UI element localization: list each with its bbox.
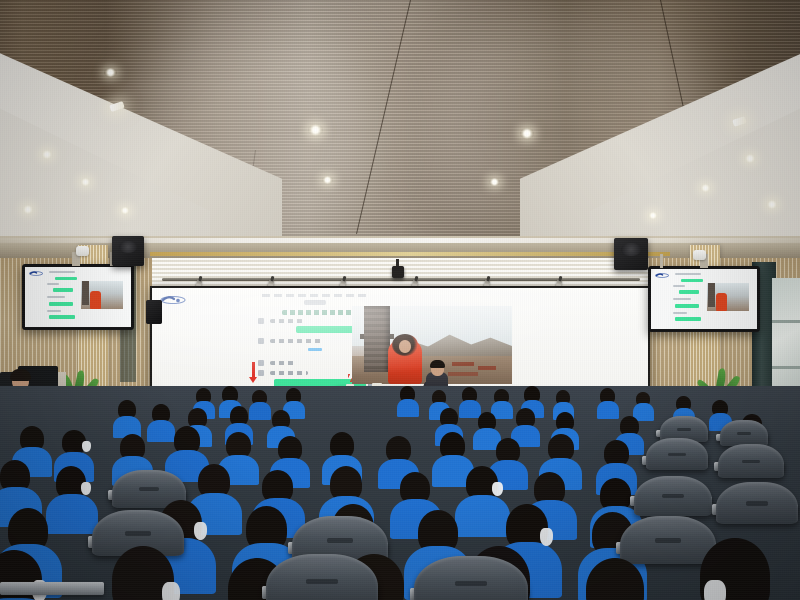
av-operator-hair (10, 369, 31, 381)
photo-person-face (399, 340, 411, 353)
monitor-mount-right-arm (660, 254, 663, 268)
right-monitor-screen (651, 269, 757, 329)
mini-chat-bubble (49, 315, 75, 319)
mini-chat-line (675, 273, 701, 275)
window-mullion (772, 320, 800, 323)
mini-photo-person (90, 291, 101, 309)
left-monitor-screen (25, 267, 131, 327)
auditorium-seat (720, 420, 768, 446)
mini-chat-line (49, 271, 75, 273)
mini-chat-line (47, 283, 59, 285)
mini-chat-line (673, 298, 691, 300)
downlight (744, 154, 756, 163)
wifi-access-point-right (693, 250, 706, 260)
mini-photo-person (716, 293, 727, 311)
right-wall-monitor (648, 266, 760, 332)
mini-photo-tower (708, 283, 715, 307)
mini-chat-line (47, 296, 65, 298)
blue-swoosh-logo (29, 270, 43, 277)
auditorium-seat (414, 556, 528, 600)
auditorium-seat (620, 516, 716, 564)
downlight (520, 128, 534, 139)
chat-bubble-incoming (270, 371, 308, 375)
downlight (766, 200, 778, 209)
chat-date-divider (304, 300, 326, 305)
blue-swoosh-logo (655, 272, 669, 279)
auditorium-seat (646, 438, 708, 470)
downlight (308, 124, 323, 136)
mini-chat-line (673, 285, 685, 287)
photo-rooftop (452, 362, 474, 366)
photo-stone-tower (364, 306, 390, 372)
mini-chat-line (673, 312, 687, 314)
downlight (700, 184, 711, 192)
seated-audience (0, 386, 800, 600)
chat-bubble-incoming (270, 339, 322, 343)
left-wall-monitor (22, 264, 134, 330)
mini-chat-line (47, 310, 61, 312)
ceiling-projector (392, 266, 404, 278)
auditorium-photo (0, 0, 800, 600)
window-mullion (772, 366, 800, 369)
gold-trim (150, 252, 670, 256)
chat-link (308, 348, 322, 351)
downlight (120, 207, 130, 214)
auditorium-seat (266, 554, 378, 600)
downlight (22, 205, 34, 214)
photo-rooftop (448, 372, 478, 376)
mini-chat-bubble (53, 288, 73, 292)
downlight (80, 178, 91, 186)
chat-bubble-incoming (270, 361, 296, 365)
red-arrow-annotation (252, 362, 255, 378)
mini-chat-bubble (679, 290, 699, 294)
photo-rooftop (478, 366, 496, 370)
wifi-access-point-left (76, 246, 89, 256)
seat-desk (0, 582, 104, 595)
chat-avatar (258, 360, 264, 366)
auditorium-seat (716, 482, 798, 524)
chat-bubble-outgoing (296, 326, 358, 333)
chat-avatar (258, 338, 264, 344)
auditorium-seat (718, 444, 784, 478)
mini-chat-bubble (681, 279, 703, 282)
downlight (489, 178, 500, 186)
presenter-hair (430, 360, 445, 368)
wall-speaker-right (614, 238, 648, 270)
chat-header (262, 294, 370, 297)
mini-chat-bubble (675, 304, 699, 308)
chat-bubble-incoming (270, 319, 304, 323)
mini-chat-bubble (675, 317, 701, 321)
wall-speaker-left-small (146, 300, 162, 324)
mini-photo-tower (82, 281, 89, 305)
downlight (648, 212, 658, 219)
blue-swoosh-logo (160, 294, 186, 306)
mini-chat-bubble (55, 277, 77, 280)
wall-speaker-left (112, 236, 144, 266)
chat-avatar (258, 318, 264, 324)
main-projection-screen (152, 288, 648, 389)
lighting-truss (162, 278, 640, 281)
downlight (104, 68, 117, 77)
chat-avatar (258, 370, 264, 376)
auditorium-seat (634, 476, 712, 516)
downlight (41, 150, 53, 159)
downlight (322, 176, 333, 184)
mini-chat-bubble (49, 302, 73, 306)
